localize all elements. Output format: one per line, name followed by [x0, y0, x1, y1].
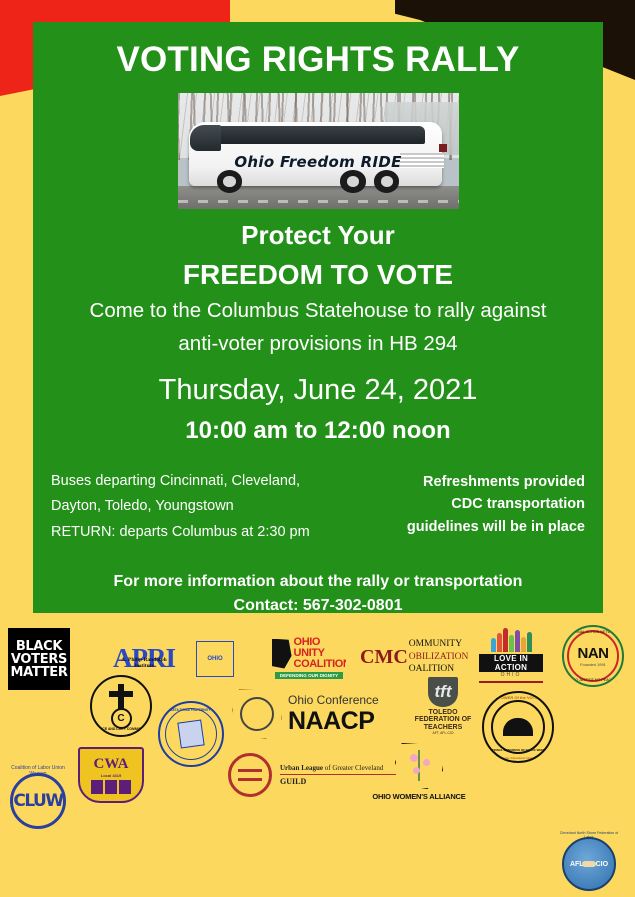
cluw-monogram: CLUW: [13, 791, 62, 811]
logo-cwa: CWA Local 4319: [78, 747, 144, 803]
cwa-crest-icon: [91, 780, 131, 794]
fraternity-ring-text: PHI BETA SIGMA FRATERNITY INC.: [164, 708, 218, 712]
ouc-tagline: DEFENDING OUR DIGNITY: [275, 672, 343, 679]
logo-ohio-womens-alliance: OHIO WOMEN'S ALLIANCE: [370, 741, 468, 803]
bus-windows: [200, 126, 425, 143]
logo-power-of-the-vote: POWER Of the VOTE NATIONAL CONGRESS OF B…: [482, 691, 554, 763]
naacp-line-2: NAACP: [288, 707, 379, 736]
logo-apri: APRI A. Philip Randolph Institute: [88, 639, 200, 677]
pov-sub: Greater Cleveland Chapter: [499, 756, 537, 760]
logo-catholic-justice-seal: C JUSTICE AND LAITY COMMISSION: [90, 675, 152, 737]
lia-wordmark: LOVE IN ACTION: [479, 654, 543, 672]
pov-ring-top: POWER Of the VOTE: [498, 695, 538, 700]
tft-shield-icon: tft: [428, 677, 458, 707]
buses-line-1: Buses departing Cincinnati, Cleveland,: [51, 469, 310, 494]
bus-wheel: [217, 170, 242, 192]
notes-line-2: CDC transportation: [407, 493, 585, 515]
lia-rule: [479, 681, 543, 683]
subhead-line-2: FREEDOM TO VOTE: [33, 259, 603, 291]
logo-national-action-network: NAN Founded 1991 NATIONAL ACTION NETWORK…: [562, 625, 624, 687]
body-line-1: Come to the Columbus Statehouse to rally…: [33, 297, 603, 324]
cwa-local: Local 4319: [101, 773, 121, 778]
buses-line-3: RETURN: departs Columbus at 2:30 pm: [51, 520, 310, 545]
raised-hands-icon: [491, 627, 532, 652]
logo-ohio-conference-naacp: Ohio Conference NAACP: [232, 687, 410, 741]
nan-inner-ring: [567, 630, 619, 682]
bvm-line-2: VOTERS: [11, 653, 67, 666]
more-info-text: For more information about the rally or …: [33, 573, 603, 591]
nan-ring-bottom: NO JUSTICE NO PEACE: [573, 678, 614, 682]
seal-ring-text: JUSTICE AND LAITY COMMISSION: [93, 727, 149, 731]
bus-photo: Ohio Freedom RIDE: [178, 93, 459, 209]
cwa-wordmark: CWA: [93, 756, 128, 773]
sponsor-logo-band: BLACK VOTERS MATTER APRI A. Philip Rando…: [0, 613, 635, 808]
naacp-seal-icon: [232, 689, 282, 739]
cross-icon: [108, 684, 134, 710]
tft-line-2: FEDERATION OF: [415, 716, 472, 724]
tft-sub: AFT, AFL-CIO: [415, 732, 472, 736]
bus-wheel: [374, 170, 399, 192]
owa-ohio-outline-icon: [395, 743, 443, 789]
nan-ring-top: NATIONAL ACTION NETWORK: [567, 630, 618, 634]
event-date: Thursday, June 24, 2021: [33, 374, 603, 407]
pov-ring-bottom: NATIONAL CONGRESS OF BLACK WOMEN: [488, 748, 548, 752]
apri-wordmark: APRI A. Philip Randolph Institute: [113, 643, 175, 674]
bus-livery-text: Ohio Freedom RIDE: [178, 153, 459, 171]
logo-toledo-federation-of-teachers: tft TOLEDO FEDERATION OF TEACHERS AFT, A…: [408, 675, 478, 737]
logo-love-in-action-ohio: LOVE IN ACTION OHIO: [478, 627, 544, 683]
logistics-row: Buses departing Cincinnati, Cleveland, D…: [51, 469, 585, 545]
logo-fraternity-seal: PHI BETA SIGMA FRATERNITY INC.: [158, 701, 224, 767]
flyer-panel: VOTING RIGHTS RALLY Ohio Freedom RIDE Pr…: [33, 22, 603, 613]
covid-notes: Refreshments provided CDC transportation…: [407, 469, 585, 545]
bvm-line-3: MATTER: [10, 666, 67, 679]
logo-apri-ohio-badge: OHIO: [196, 641, 234, 677]
notes-line-3: guidelines will be in place: [407, 516, 585, 538]
bus-departures: Buses departing Cincinnati, Cleveland, D…: [51, 469, 310, 545]
bus-wheel: [340, 170, 365, 192]
apri-subtitle: A. Philip Randolph Institute: [113, 657, 175, 669]
bus-taillight: [439, 144, 447, 152]
photo-road-marking: [178, 200, 459, 203]
cmc-monogram: CMC: [360, 648, 408, 667]
bvm-line-1: BLACK: [16, 640, 62, 653]
cluw-ring-text: Coalition of Labor Union Women: [2, 765, 74, 777]
ohio-state-shape-icon: [272, 639, 292, 669]
buses-line-2: Dayton, Toledo, Youngstown: [51, 494, 310, 519]
tft-line-1: TOLEDO: [415, 709, 472, 717]
afl-ring-text: Cleveland North Shore Federation of Labo…: [556, 831, 622, 839]
cmc-line-2: OBILIZATION: [409, 651, 469, 664]
logo-ohio-unity-coalition: OHIO UNITY COALITION DEFENDING OUR DIGNI…: [272, 629, 346, 687]
cio-label: CIO: [596, 861, 608, 868]
logo-black-voters-matter: BLACK VOTERS MATTER: [8, 628, 70, 690]
seal-letter-c: C: [111, 708, 132, 729]
ouc-line-3: COALITION: [294, 659, 346, 670]
apri-ohio-label: OHIO: [207, 656, 222, 662]
fraternity-crest-icon: [177, 719, 204, 748]
body-line-2: anti-voter provisions in HB 294: [33, 330, 603, 357]
bus-windshield: [190, 125, 221, 151]
subhead-line-1: Protect Your: [33, 220, 603, 251]
lia-sub: OHIO: [501, 672, 522, 678]
equal-sign-icon: [228, 753, 272, 797]
ul-line-1a: Urban League: [280, 764, 323, 772]
handshake-icon: [582, 861, 595, 868]
event-time: 10:00 am to 12:00 noon: [33, 417, 603, 445]
cmc-line-1: OMMUNITY: [409, 638, 469, 651]
logo-afl-cio: AFL CIO Cleveland North Shore Federation…: [556, 831, 622, 897]
owa-wordmark: OHIO WOMEN'S ALLIANCE: [372, 792, 465, 801]
page-title: VOTING RIGHTS RALLY: [33, 42, 603, 79]
logo-coalition-of-labor-union-women: CLUW Coalition of Labor Union Women: [2, 765, 74, 837]
tft-monogram: tft: [435, 682, 452, 702]
naacp-line-1: Ohio Conference: [288, 693, 379, 707]
notes-line-1: Refreshments provided: [407, 471, 585, 493]
